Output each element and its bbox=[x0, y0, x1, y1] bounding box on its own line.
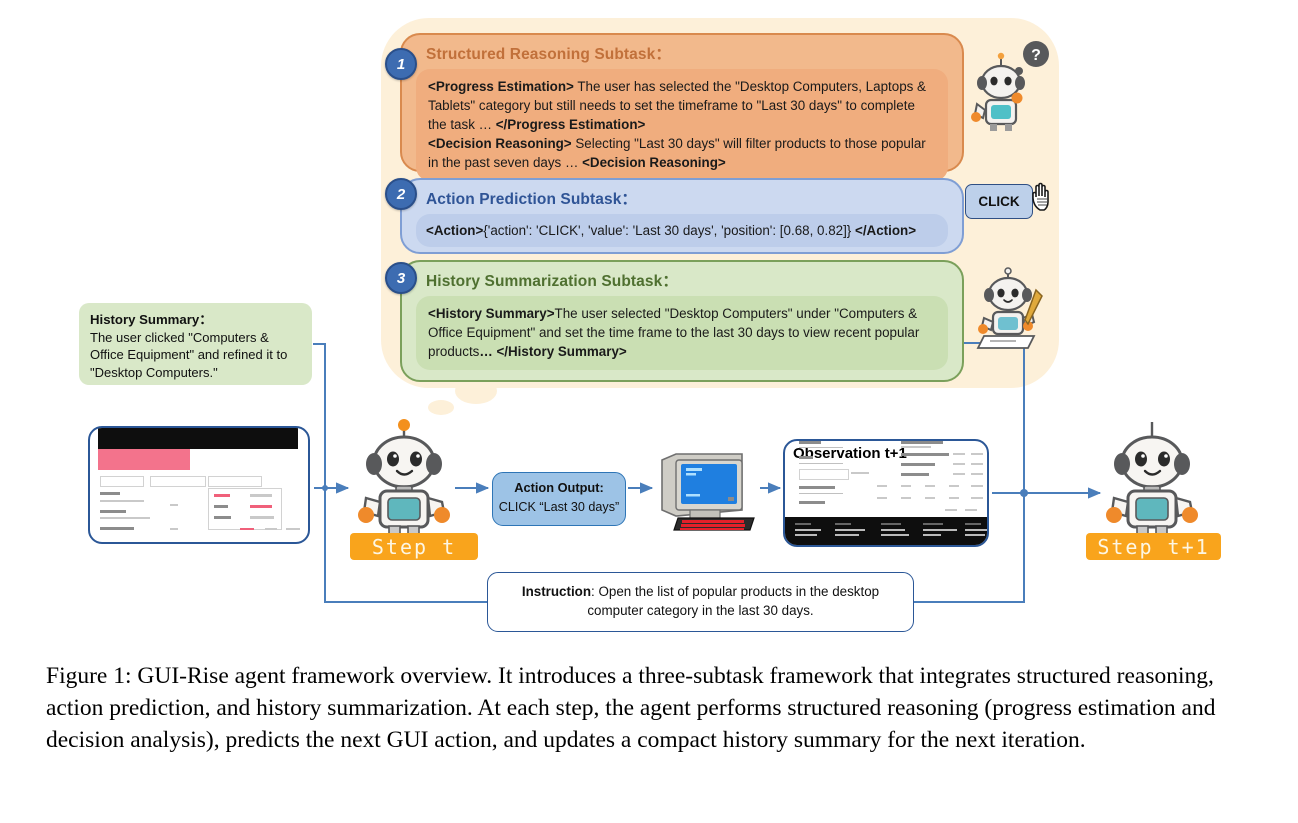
instruction-text: : Open the list of popular products in t… bbox=[587, 584, 879, 618]
observation-t1-screenshot bbox=[785, 441, 989, 527]
observation-t-panel: Observation t bbox=[88, 426, 310, 544]
agent-robot-step-t-icon bbox=[352, 416, 456, 536]
writing-robot-icon bbox=[970, 266, 1054, 352]
figure-caption: Figure 1: GUI-Rise agent framework overv… bbox=[46, 660, 1252, 757]
action-output-label: Action Output: bbox=[514, 480, 604, 495]
progress-estimation-open-tag: <Progress Estimation> bbox=[428, 79, 574, 94]
action-close-tag: </Action> bbox=[855, 223, 916, 238]
history-summary-open-tag: <History Summary> bbox=[428, 306, 555, 321]
structured-reasoning-body: <Progress Estimation> The user has selec… bbox=[416, 69, 948, 181]
action-payload: {'action': 'CLICK', 'value': 'Last 30 da… bbox=[483, 223, 855, 238]
agent-robot-step-t1-icon bbox=[1100, 416, 1204, 536]
step-t-badge: Step t bbox=[350, 533, 478, 560]
history-summary-box: History Summary： The user clicked "Compu… bbox=[79, 303, 312, 385]
subtask-badge-2: 2 bbox=[385, 178, 417, 210]
action-prediction-card: Action Prediction Subtask： <Action>{'act… bbox=[400, 178, 964, 254]
structured-reasoning-title: Structured Reasoning Subtask： bbox=[426, 42, 962, 64]
instruction-box: Instruction: Open the list of popular pr… bbox=[487, 572, 914, 632]
history-summarization-card: History Summarization Subtask： <History … bbox=[400, 260, 964, 382]
action-prediction-body: <Action>{'action': 'CLICK', 'value': 'La… bbox=[416, 214, 948, 247]
figure-root: Structured Reasoning Subtask： <Progress … bbox=[0, 0, 1298, 823]
observation-t-screenshot bbox=[90, 428, 310, 524]
progress-estimation-close-tag: </Progress Estimation> bbox=[496, 117, 646, 132]
history-summary-close-tag: … </History Summary> bbox=[479, 344, 626, 359]
question-mark-icon: ? bbox=[1031, 47, 1041, 64]
decision-reasoning-close-tag: <Decision Reasoning> bbox=[582, 155, 726, 170]
observation-t1-panel: Observation t+1 bbox=[783, 439, 989, 547]
structured-reasoning-card: Structured Reasoning Subtask： <Progress … bbox=[400, 33, 964, 172]
thinking-robot-icon: ? bbox=[967, 38, 1053, 134]
action-output-value: CLICK “Last 30 days” bbox=[499, 500, 619, 514]
action-output-box: Action Output: CLICK “Last 30 days” bbox=[492, 472, 626, 526]
pointing-hand-cursor-icon bbox=[1030, 182, 1058, 212]
step-t1-badge: Step t+1 bbox=[1086, 533, 1221, 560]
crt-computer-icon bbox=[650, 450, 762, 532]
history-summarization-body: <History Summary>The user selected "Desk… bbox=[416, 296, 948, 370]
instruction-label: Instruction bbox=[522, 584, 591, 599]
subtask-badge-1: 1 bbox=[385, 48, 417, 80]
decision-reasoning-open-tag: <Decision Reasoning> bbox=[428, 136, 572, 151]
history-summary-box-text: The user clicked "Computers & Office Equ… bbox=[90, 330, 287, 380]
history-summary-box-title: History Summary： bbox=[90, 312, 212, 327]
action-open-tag: <Action> bbox=[426, 223, 483, 238]
history-summarization-title: History Summarization Subtask： bbox=[426, 269, 962, 291]
click-button[interactable]: CLICK bbox=[965, 184, 1033, 219]
action-prediction-title: Action Prediction Subtask： bbox=[426, 187, 962, 209]
subtask-badge-3: 3 bbox=[385, 262, 417, 294]
